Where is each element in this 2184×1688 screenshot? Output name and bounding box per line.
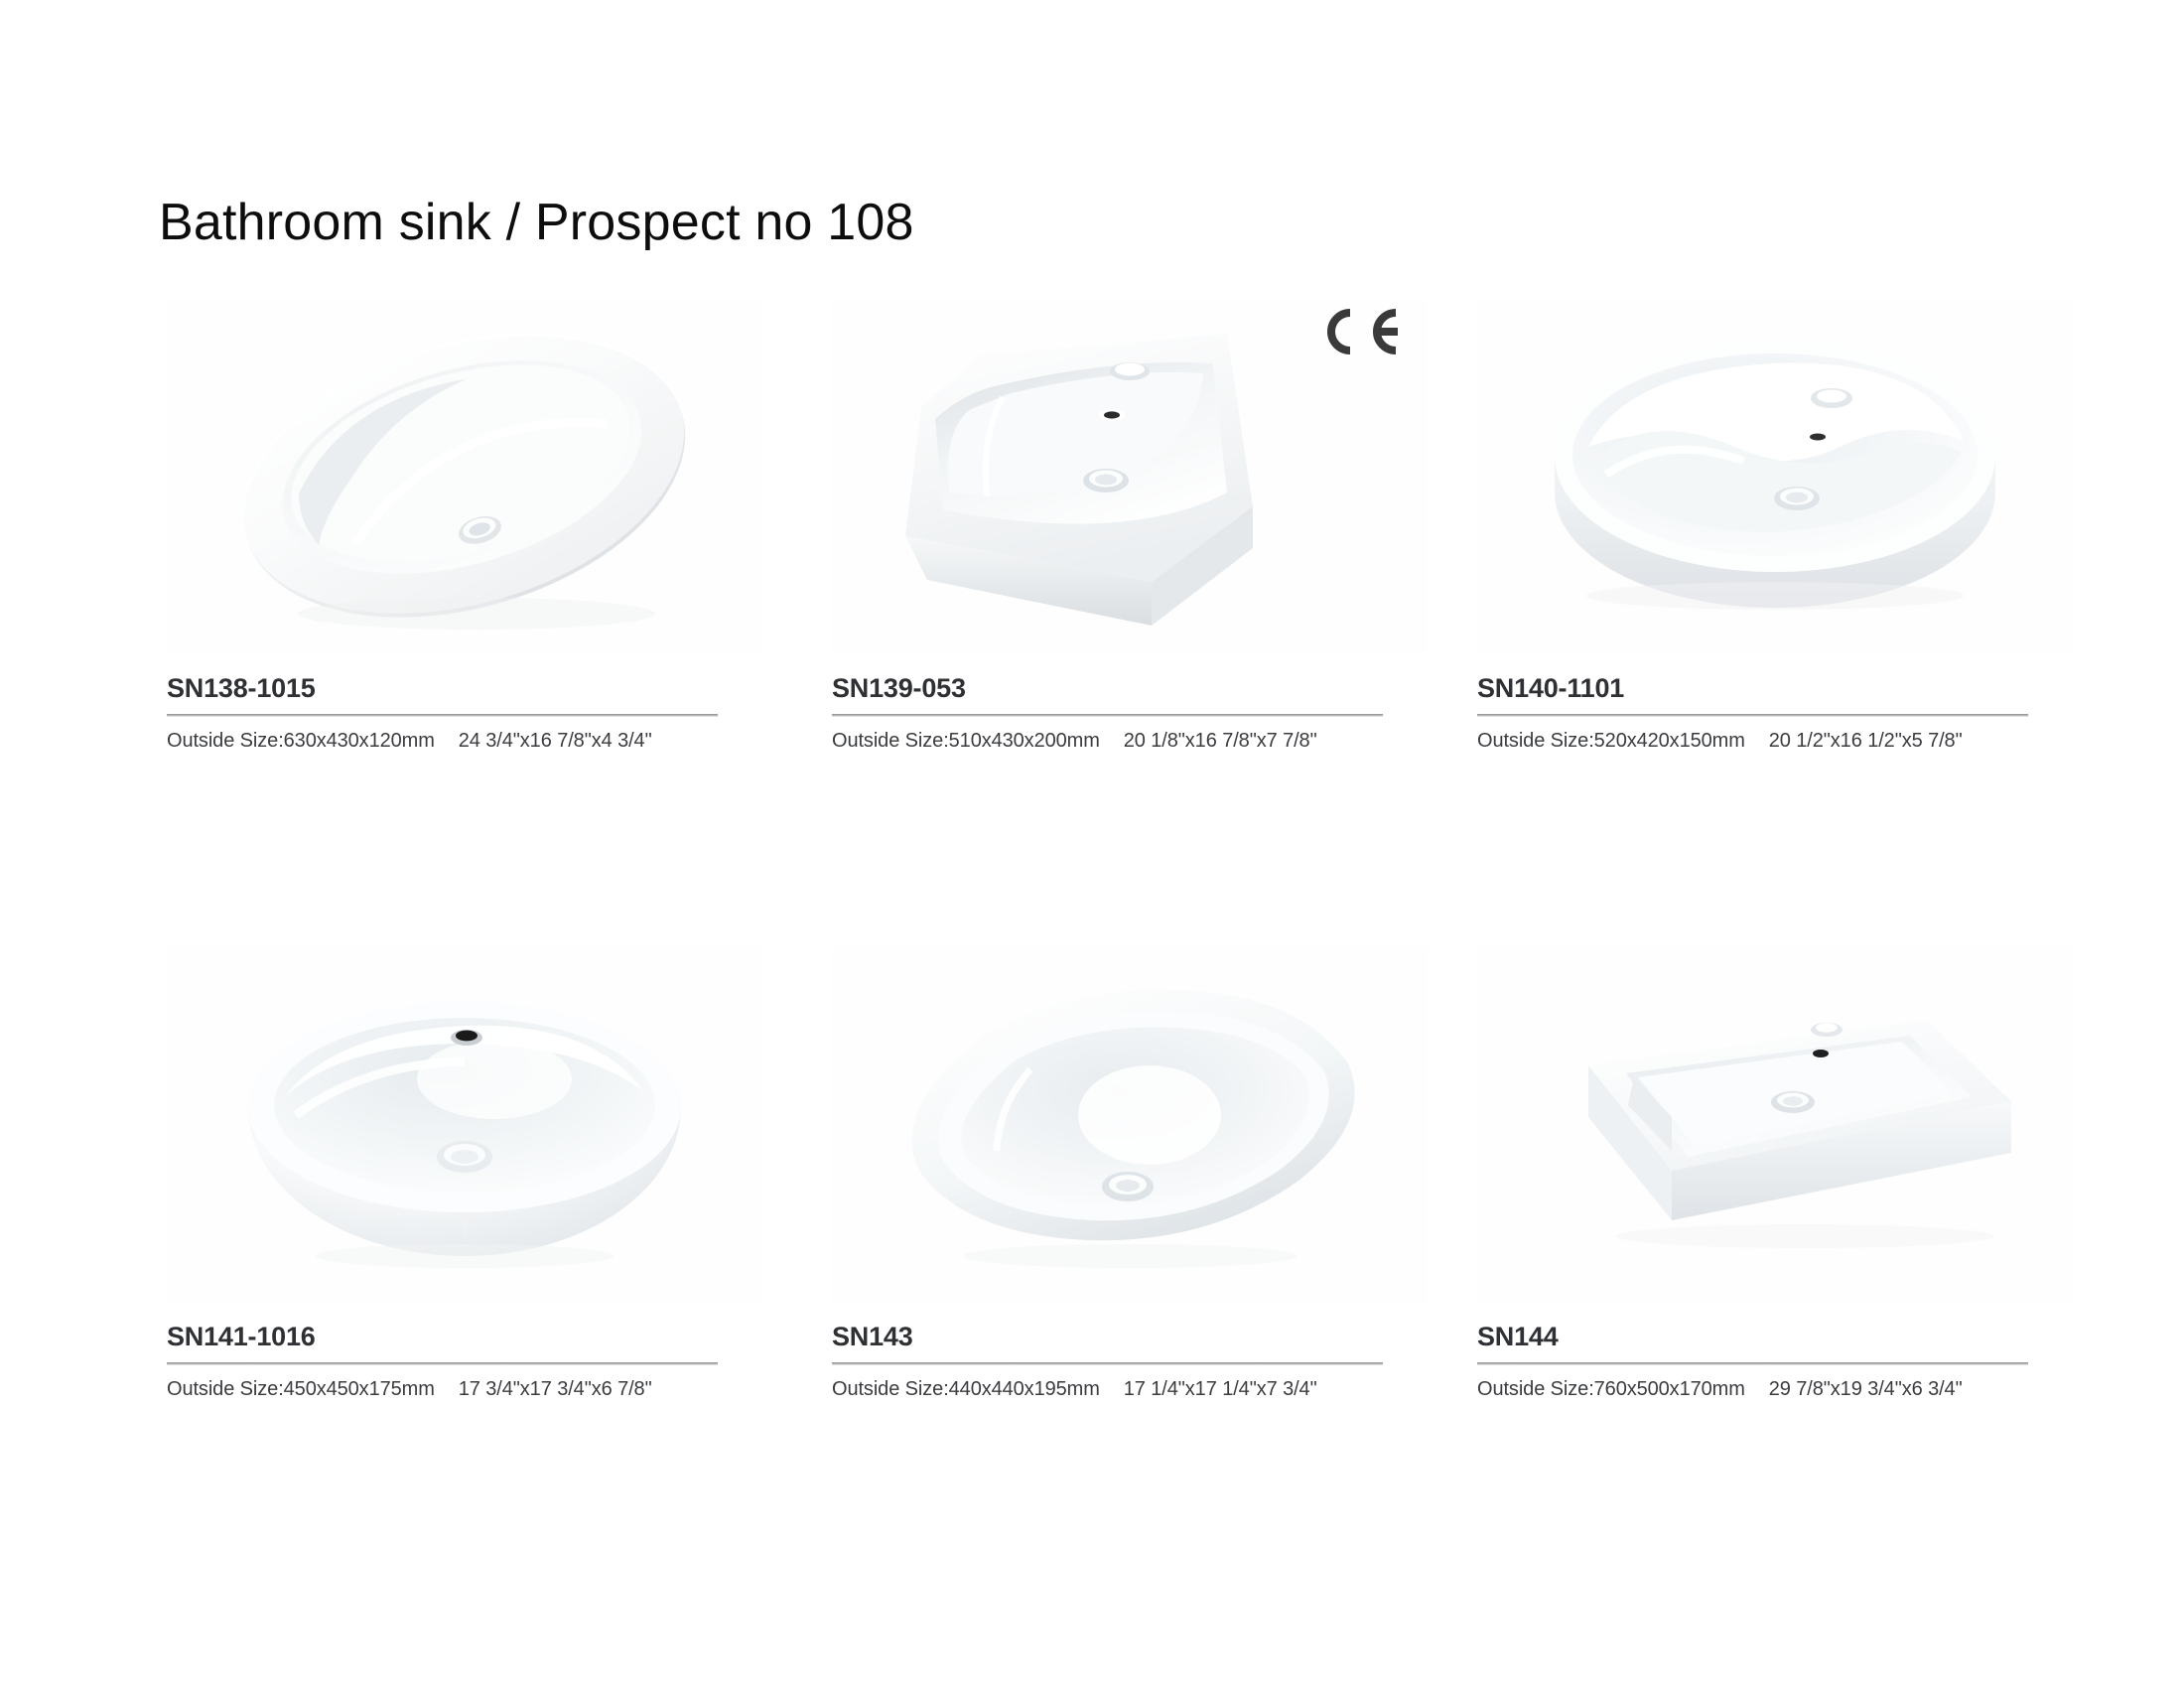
product-card[interactable]: SN140-1101 Outside Size:520x420x150mm 20… [1477, 298, 2073, 753]
product-card[interactable]: SN141-1016 Outside Size:450x450x175mm 17… [167, 946, 762, 1401]
spec-metric: Outside Size:440x440x195mm [832, 1378, 1100, 1401]
product-code: SN140-1101 [1477, 673, 2073, 704]
product-image-round-vessel [1477, 298, 2073, 655]
divider [167, 1362, 718, 1365]
product-card[interactable]: SN138-1015 Outside Size:630x430x120mm 24… [167, 298, 762, 753]
spec-metric: Outside Size:760x500x170mm [1477, 1378, 1745, 1401]
product-specs: Outside Size:440x440x195mm 17 1/4"x17 1/… [832, 1378, 1428, 1401]
spec-imperial: 20 1/2"x16 1/2"x5 7/8" [1769, 730, 1963, 753]
product-card[interactable]: SN144 Outside Size:760x500x170mm 29 7/8"… [1477, 946, 2073, 1401]
product-specs: Outside Size:510x430x200mm 20 1/8"x16 7/… [832, 730, 1428, 753]
product-code: SN144 [1477, 1322, 2073, 1352]
product-image-oval-vessel [167, 298, 762, 655]
divider [1477, 1362, 2028, 1365]
spec-metric: Outside Size:630x430x120mm [167, 730, 435, 753]
product-specs: Outside Size:630x430x120mm 24 3/4"x16 7/… [167, 730, 762, 753]
product-specs: Outside Size:760x500x170mm 29 7/8"x19 3/… [1477, 1378, 2073, 1401]
divider [167, 714, 718, 717]
spec-metric: Outside Size:520x420x150mm [1477, 730, 1745, 753]
spec-metric: Outside Size:510x430x200mm [832, 730, 1100, 753]
spec-imperial: 20 1/8"x16 7/8"x7 7/8" [1124, 730, 1317, 753]
product-code: SN139-053 [832, 673, 1428, 704]
product-grid: SN138-1015 Outside Size:630x430x120mm 24… [167, 298, 2043, 1401]
product-image-spherical-bowl [167, 946, 762, 1304]
product-card[interactable]: SN139-053 Outside Size:510x430x200mm 20 … [832, 298, 1428, 753]
divider [832, 1362, 1383, 1365]
product-card[interactable]: SN143 Outside Size:440x440x195mm 17 1/4"… [832, 946, 1428, 1401]
spec-imperial: 17 3/4"x17 3/4"x6 7/8" [459, 1378, 652, 1401]
product-specs: Outside Size:450x450x175mm 17 3/4"x17 3/… [167, 1378, 762, 1401]
divider [832, 714, 1383, 717]
spec-imperial: 29 7/8"x19 3/4"x6 3/4" [1769, 1378, 1963, 1401]
spec-metric: Outside Size:450x450x175mm [167, 1378, 435, 1401]
product-image-rectangular-countertop [832, 298, 1428, 655]
product-image-wide-rectangular-basin [1477, 946, 2073, 1304]
product-specs: Outside Size:520x420x150mm 20 1/2"x16 1/… [1477, 730, 2073, 753]
ce-mark-icon [1316, 304, 1402, 359]
catalog-page: Bathroom sink / Prospect no 108 [0, 0, 2184, 1688]
spec-imperial: 17 1/4"x17 1/4"x7 3/4" [1124, 1378, 1317, 1401]
divider [1477, 714, 2028, 717]
product-code: SN138-1015 [167, 673, 762, 704]
product-code: SN143 [832, 1322, 1428, 1352]
product-code: SN141-1016 [167, 1322, 762, 1352]
product-image-rounded-square-vessel [832, 946, 1428, 1304]
spec-imperial: 24 3/4"x16 7/8"x4 3/4" [459, 730, 652, 753]
page-title: Bathroom sink / Prospect no 108 [159, 195, 914, 251]
